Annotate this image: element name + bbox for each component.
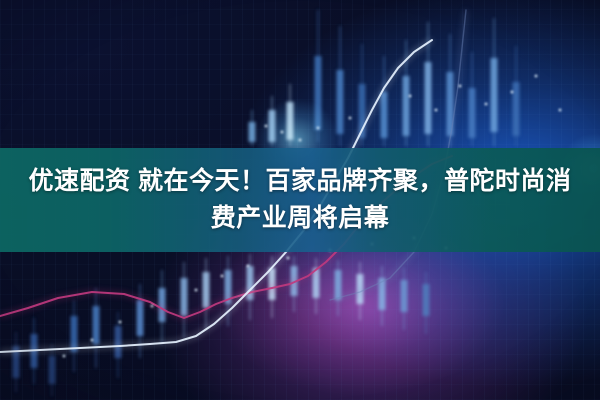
headline-overlay-band: 优速配资 就在今天！百家品牌齐聚，普陀时尚消 费产业周将启幕 bbox=[0, 148, 600, 252]
headline-line-1: 优速配资 就在今天！百家品牌齐聚，普陀时尚消 bbox=[29, 163, 572, 200]
stock-chart-banner-image: 优速配资 就在今天！百家品牌齐聚，普陀时尚消 费产业周将启幕 bbox=[0, 0, 600, 400]
headline-line-2: 费产业周将启幕 bbox=[211, 200, 390, 237]
